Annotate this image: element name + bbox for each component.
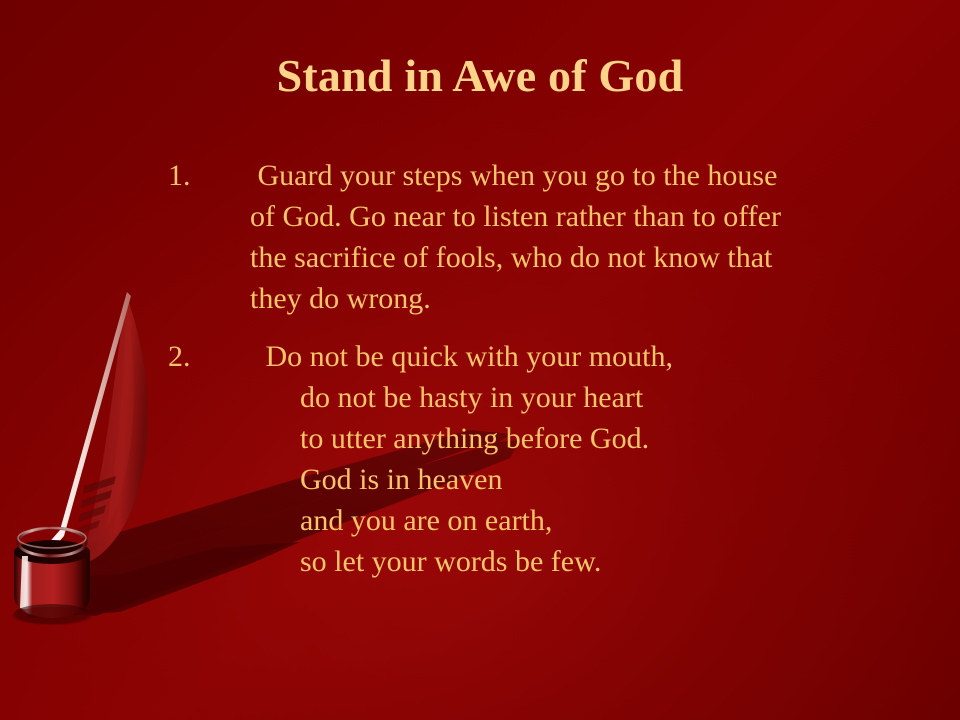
text-line: they do wrong. [250, 278, 924, 319]
bullet-list: 1. Guard your steps when you go to the h… [168, 155, 924, 582]
text-line: do not be hasty in your heart [258, 377, 924, 418]
text-line: of God. Go near to listen rather than to… [250, 196, 924, 237]
text-line: so let your words be few. [258, 541, 924, 582]
slide-content: Stand in Awe of God 1. Guard your steps … [0, 0, 960, 720]
list-item-text: Guard your steps when you go to the hous… [250, 155, 924, 319]
list-item: 1. Guard your steps when you go to the h… [168, 155, 924, 319]
text-line: and you are on earth, [258, 500, 924, 541]
text-line: to utter anything before God. [258, 418, 924, 459]
slide-canvas: Stand in Awe of God 1. Guard your steps … [0, 0, 960, 720]
list-item: 2. Do not be quick with your mouth, do n… [168, 336, 924, 582]
page-title: Stand in Awe of God [0, 48, 960, 104]
list-item-text: Do not be quick with your mouth, do not … [258, 336, 924, 582]
text-line: Guard your steps when you go to the hous… [250, 155, 924, 196]
text-line: Do not be quick with your mouth, [258, 336, 924, 377]
text-line: the sacrifice of fools, who do not know … [250, 237, 924, 278]
list-item-marker: 1. [168, 155, 230, 196]
text-line: God is in heaven [258, 459, 924, 500]
list-item-marker: 2. [168, 336, 230, 377]
